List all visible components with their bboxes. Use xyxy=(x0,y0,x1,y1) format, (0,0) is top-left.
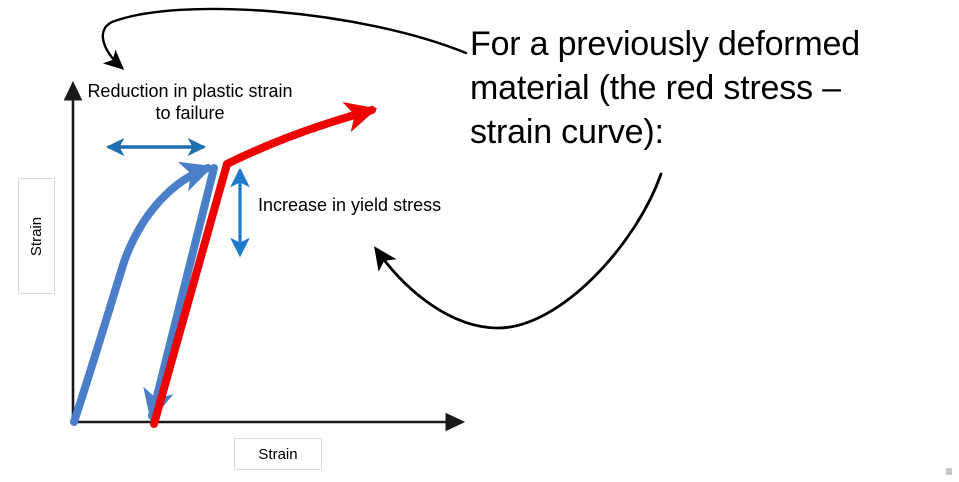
annotation-reduction-label: Reduction in plastic strain to failure xyxy=(85,81,295,125)
slide-canvas: For a previously deformed material (the … xyxy=(0,0,959,482)
y-axis-label-box[interactable]: Strain xyxy=(18,178,55,294)
top-callout-arrow xyxy=(103,9,466,68)
x-axis-label-box[interactable]: Strain xyxy=(234,438,322,470)
x-axis-label-text: Strain xyxy=(258,446,297,463)
annotation-yield-label: Increase in yield stress xyxy=(258,195,441,216)
corner-marker xyxy=(946,468,952,475)
y-axis-label-text: Strain xyxy=(28,216,45,255)
body-text: For a previously deformed material (the … xyxy=(470,22,860,155)
